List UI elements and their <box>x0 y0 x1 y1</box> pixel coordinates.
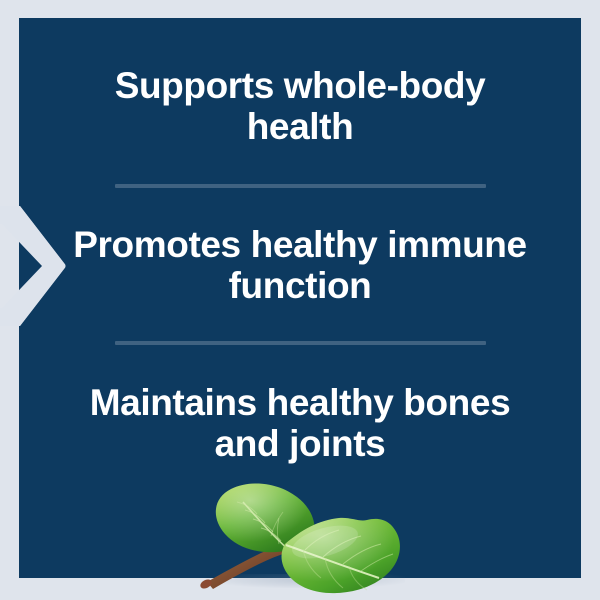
benefit-item-bones-and-joints: Maintains healthy bones and joints <box>19 382 581 465</box>
promo-graphic: Supports whole-body health Promotes heal… <box>0 0 600 600</box>
benefit-item-whole-body-health: Supports whole-body health <box>19 65 581 148</box>
stem-tip <box>199 578 213 591</box>
green-leaves-icon <box>193 478 413 600</box>
divider-2 <box>115 341 486 345</box>
green-leaves-svg <box>193 478 413 600</box>
benefit-item-immune-function: Promotes healthy immune function <box>19 224 581 307</box>
divider-1 <box>115 184 486 188</box>
